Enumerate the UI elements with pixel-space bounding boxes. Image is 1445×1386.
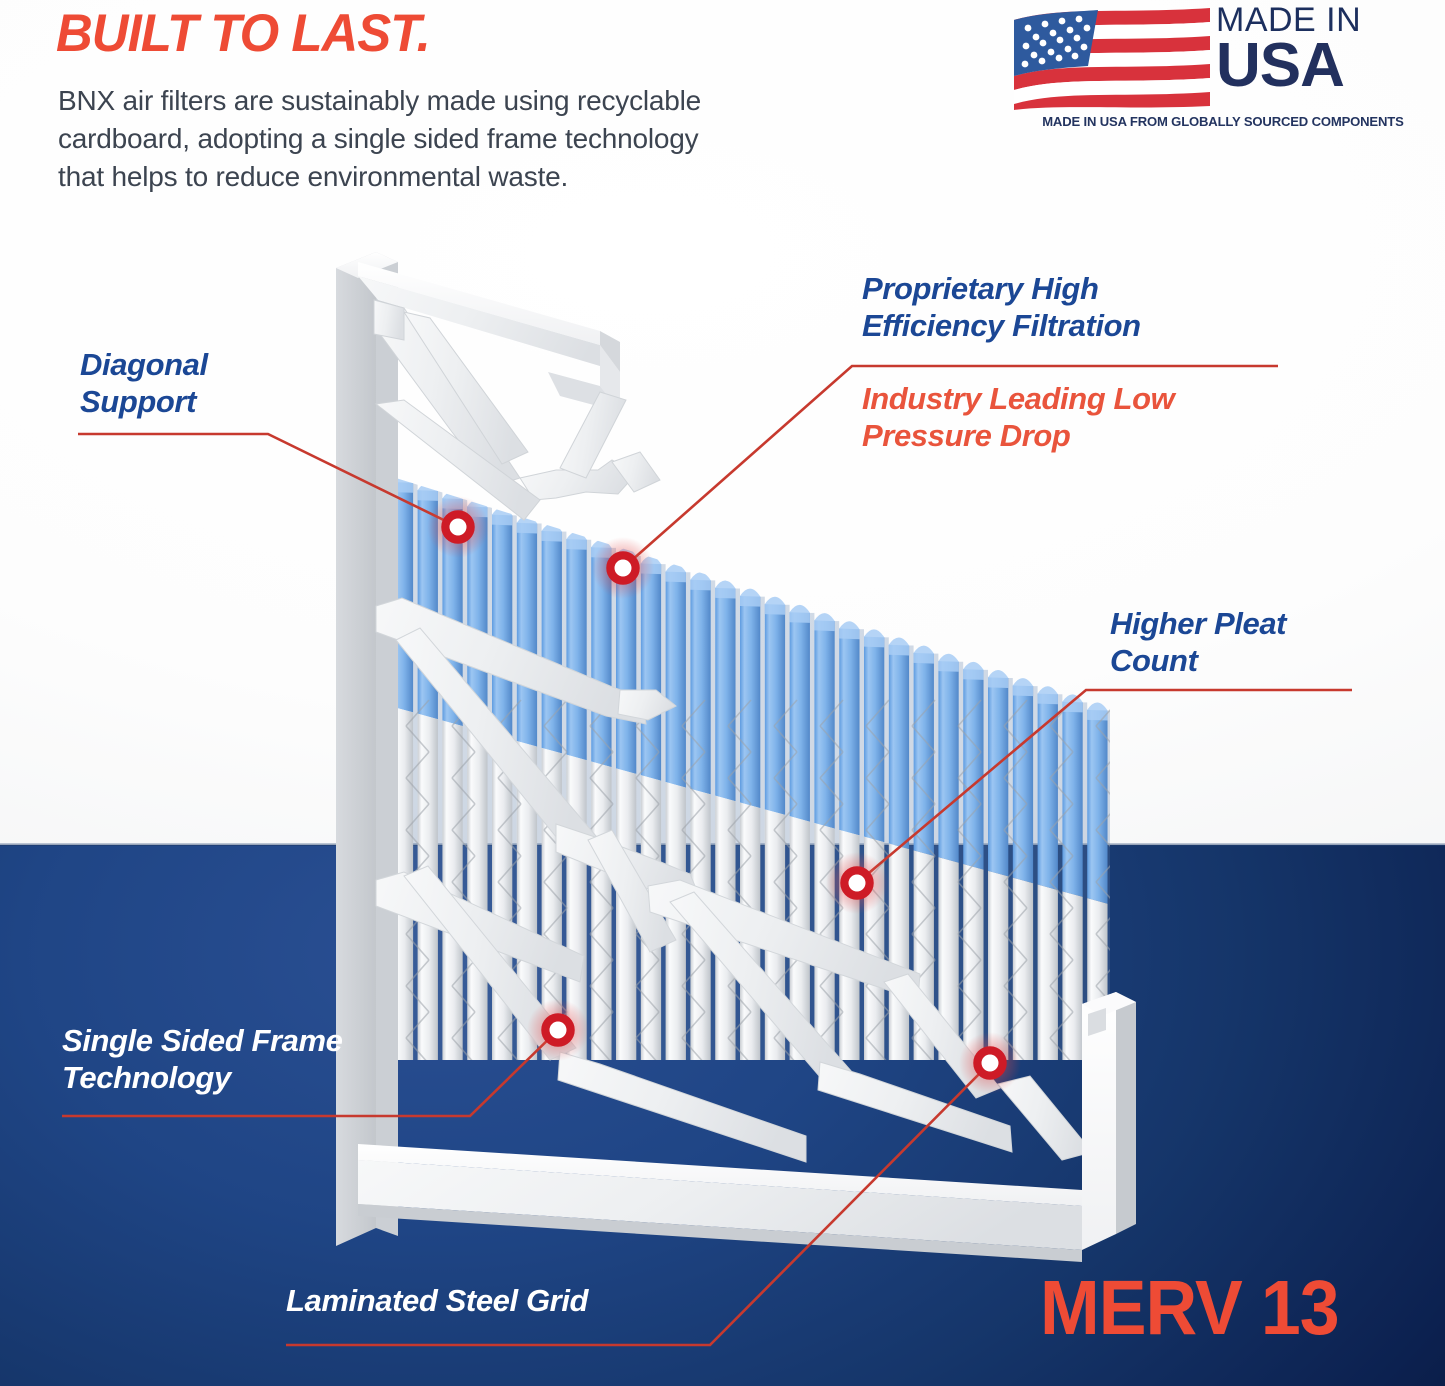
air-filter-illustration [0,0,1445,1386]
callout-line-2: Technology [62,1059,343,1096]
callout-low-pressure-drop: Industry Leading Low Pressure Drop [862,380,1174,454]
callout-single-sided-frame: Single Sided Frame Technology [62,1022,343,1096]
callout-line-2: Count [1110,642,1286,679]
merv-rating-label: MERV 13 [1040,1268,1339,1348]
made-in-usa-badge: MADE IN USA MADE IN USA FROM GLOBALLY SO… [1012,2,1432,132]
badge-usa-label: USA [1216,36,1432,96]
page-headline: BUILT TO LAST. [56,4,430,64]
callout-line-1: Diagonal [80,346,208,383]
callout-laminated-steel-grid: Laminated Steel Grid [286,1282,588,1319]
frame-right-endcap [1082,992,1136,1250]
callout-line-1: Laminated Steel Grid [286,1282,588,1319]
page-body-copy: BNX air filters are sustainably made usi… [58,82,748,196]
callout-line-1: Single Sided Frame [62,1022,343,1059]
callout-higher-pleat-count: Higher Pleat Count [1110,605,1286,679]
usa-flag-icon [1012,4,1212,110]
callout-line-1: Industry Leading Low [862,380,1174,417]
frame-left-post [336,252,398,1246]
callout-line-2: Support [80,383,208,420]
callout-proprietary-filtration: Proprietary High Efficiency Filtration [862,270,1141,344]
callout-line-2: Pressure Drop [862,417,1174,454]
frame-bottom-rail [358,1144,1082,1262]
made-in-usa-text: MADE IN USA [1216,2,1432,96]
badge-fine-print: MADE IN USA FROM GLOBALLY SOURCED COMPON… [1018,114,1428,129]
callout-line-1: Higher Pleat [1110,605,1286,642]
callout-line-1: Proprietary High [862,270,1141,307]
callout-diagonal-support: Diagonal Support [80,346,208,420]
infographic-canvas: BUILT TO LAST. BNX air filters are susta… [0,0,1445,1386]
callout-line-2: Efficiency Filtration [862,307,1141,344]
